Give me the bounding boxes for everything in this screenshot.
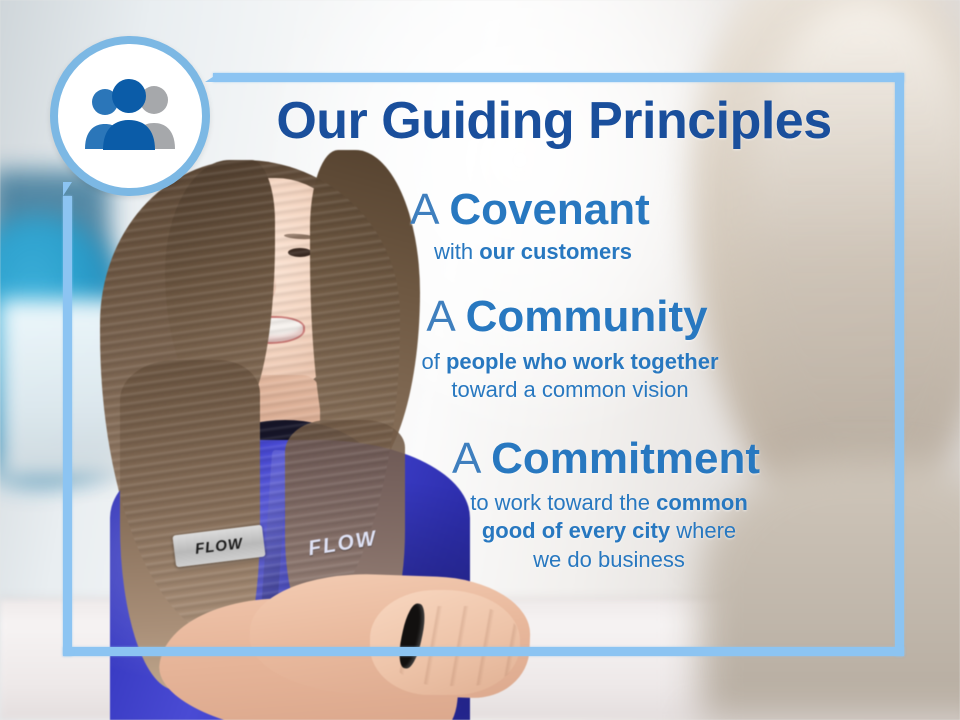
principle-community-sub-line1: of people who work together [259, 348, 881, 376]
principle-covenant-subtext: with our customers [213, 238, 881, 266]
people-badge [50, 36, 210, 196]
principle-covenant-word: Covenant [449, 185, 649, 234]
principle-community: A Community of people who work together … [213, 292, 881, 404]
principle-covenant-heading: A Covenant [213, 185, 881, 234]
people-group-icon [78, 79, 182, 153]
principle-community-heading: A Community [213, 292, 881, 341]
principle-community-lead: A [426, 292, 453, 341]
principle-commitment: A Commitment to work toward the common g… [213, 434, 881, 574]
guiding-principles-poster: FLOW FLOW [0, 0, 960, 720]
principles-list: A Covenant with our customers A Communit… [213, 185, 881, 578]
principle-commitment-heading: A Commitment [213, 434, 881, 483]
principle-covenant-sub-bold: our customers [479, 239, 632, 264]
principle-commitment-sub-bold-1: common [656, 490, 748, 515]
page-title: Our Guiding Principles [213, 95, 895, 148]
principle-community-sub-bold: people who work together [446, 349, 719, 374]
principle-commitment-sub-bold-2: good of every city [482, 518, 670, 543]
principle-commitment-sub-line3: we do business [337, 546, 881, 574]
principle-covenant-lead: A [410, 185, 437, 234]
principle-community-sub-line2: toward a common vision [259, 376, 881, 404]
principle-commitment-sub-line1: to work toward the common [337, 489, 881, 517]
principle-commitment-sub-plain-2: where [670, 518, 736, 543]
principle-commitment-lead: A [452, 434, 479, 483]
principle-commitment-sub-line2: good of every city where [337, 517, 881, 545]
principle-commitment-word: Commitment [491, 434, 760, 483]
principle-community-word: Community [466, 292, 708, 341]
principle-commitment-sub-plain: to work toward the [470, 490, 656, 515]
principle-community-subtext: of people who work together toward a com… [213, 348, 881, 404]
principle-community-sub-plain: of [421, 349, 445, 374]
principle-commitment-subtext: to work toward the common good of every … [213, 489, 881, 573]
principle-covenant: A Covenant with our customers [213, 185, 881, 266]
principle-covenant-sub-plain: with [434, 239, 479, 264]
